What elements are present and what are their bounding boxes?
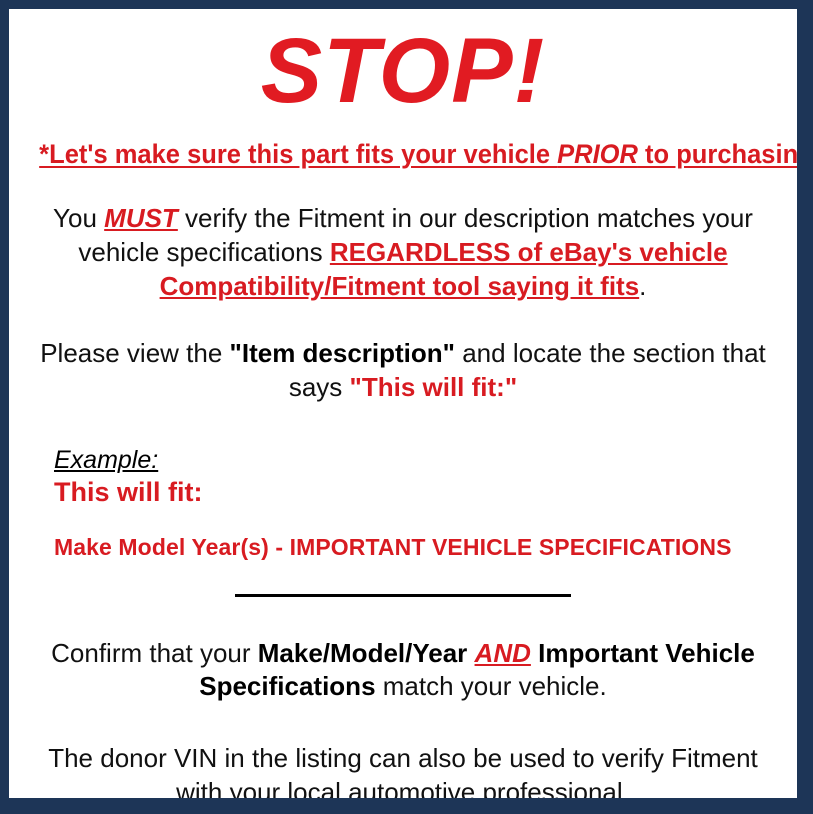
example-vehicle-spec-line: Make Model Year(s) - IMPORTANT VEHICLE S…: [54, 534, 788, 560]
must-verify-paragraph: You MUST verify the Fitment in our descr…: [18, 202, 788, 303]
confirm-paragraph: Confirm that your Make/Model/Year AND Im…: [18, 637, 788, 705]
must-part-three: .: [639, 271, 646, 301]
banner-prefix-text: *Let's make sure this part fits your veh…: [39, 139, 557, 169]
must-part-one: You: [53, 203, 104, 233]
example-block: Example: This will fit: Make Model Year(…: [18, 445, 788, 560]
example-label-row: Example:: [54, 445, 788, 475]
page-title: STOP!: [18, 25, 788, 117]
make-model-year-emphasis: Make/Model/Year: [258, 638, 468, 668]
notice-card-inner: STOP! *Let's make sure this part fits yo…: [9, 25, 797, 814]
donor-vin-paragraph: The donor VIN in the listing can also be…: [18, 742, 788, 810]
example-this-will-fit: This will fit:: [54, 477, 788, 508]
item-description-emphasis: "Item description": [230, 338, 455, 368]
this-will-fit-emphasis: "This will fit:": [350, 372, 518, 402]
banner-emphasis-prior: PRIOR: [557, 139, 638, 169]
banner-suffix-text: to purchasing*: [638, 139, 813, 169]
confirm-part-two: match your vehicle.: [376, 671, 607, 701]
section-divider: [235, 594, 571, 597]
fitment-banner-line: *Let's make sure this part fits your veh…: [39, 139, 767, 170]
view-part-one: Please view the: [40, 338, 229, 368]
confirm-part-one: Confirm that your: [51, 638, 258, 668]
item-description-paragraph: Please view the "Item description" and l…: [18, 337, 788, 405]
must-emphasis: MUST: [104, 203, 178, 233]
divider-wrapper: [18, 587, 788, 605]
example-label: Example:: [54, 445, 158, 475]
fitment-notice-card: STOP! *Let's make sure this part fits yo…: [0, 0, 813, 814]
and-emphasis: AND: [475, 638, 531, 668]
